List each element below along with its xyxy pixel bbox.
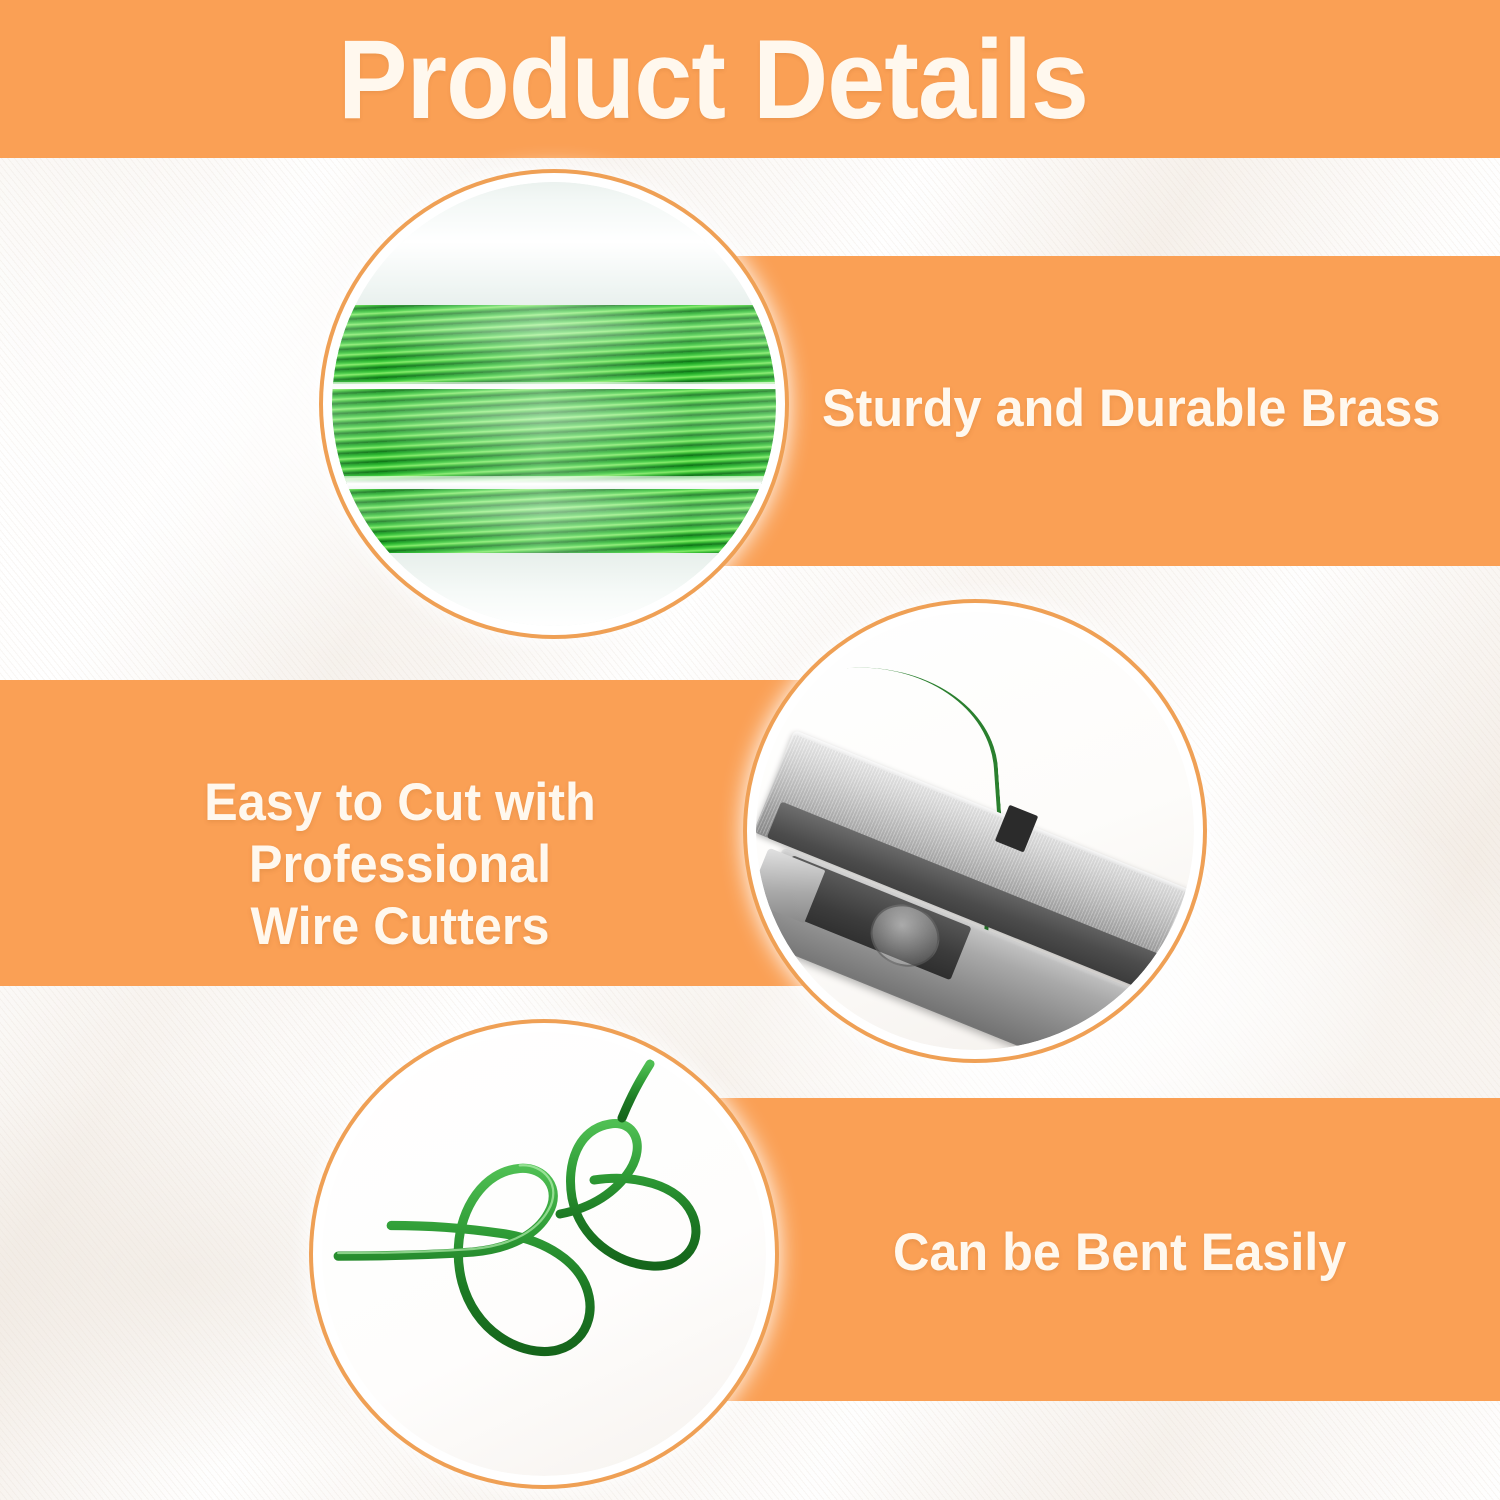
wire-tail-top-right — [622, 1064, 650, 1118]
green-wire-coil-band-1 — [332, 305, 776, 385]
feature-image-bent-looped-wire — [322, 1032, 766, 1476]
feature-image-wire-cutter-pliers — [756, 612, 1194, 1050]
feature-image-green-brass-wire-spool — [332, 182, 776, 626]
spool-bottom-flange — [332, 553, 776, 626]
green-wire-coil-band-2 — [332, 389, 776, 483]
image-clip — [332, 182, 776, 626]
product-details-infographic: Product Details Sturdy and Durable Brass… — [0, 0, 1500, 1500]
wire-loop-right — [560, 1124, 696, 1267]
feature-label-sturdy-brass: Sturdy and Durable Brass — [822, 378, 1440, 440]
spool-top-flange — [332, 182, 776, 307]
image-clip — [756, 612, 1194, 1050]
green-wire-coil-band-3 — [332, 489, 776, 559]
image-clip — [322, 1032, 766, 1476]
feature-label-easy-to-cut: Easy to Cut with Professional Wire Cutte… — [58, 772, 742, 958]
feature-label-bent-easily: Can be Bent Easily — [893, 1222, 1346, 1284]
spool-body — [332, 182, 776, 626]
page-title: Product Details — [338, 14, 1088, 146]
bent-green-wire-drawing — [322, 1032, 766, 1476]
